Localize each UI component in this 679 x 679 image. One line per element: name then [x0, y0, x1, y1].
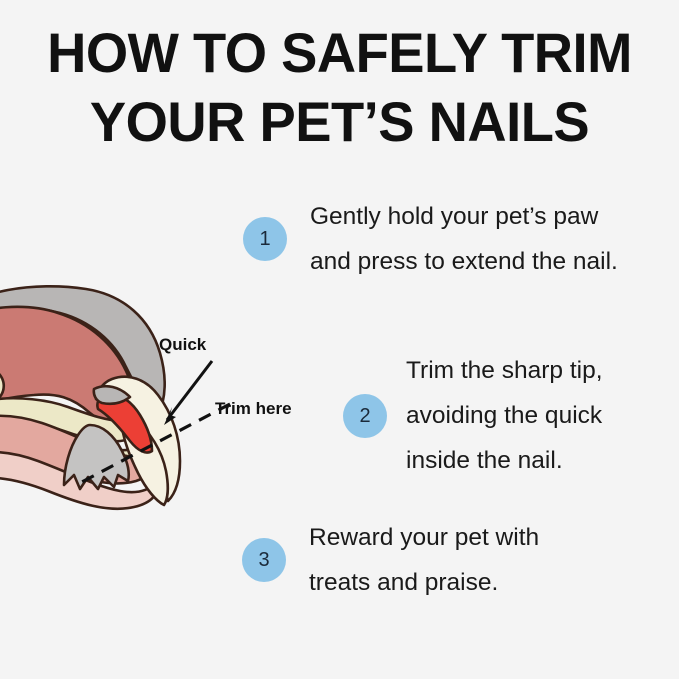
title-line-2: YOUR PET’S NAILS [10, 87, 669, 156]
step-item-1: 1 Gently hold your pet’s paw and press t… [243, 194, 618, 284]
step-text-3: Reward your pet with treats and praise. [309, 515, 539, 605]
step-item-2: 2 Trim the sharp tip, avoiding the quick… [343, 348, 603, 483]
title-line-1: HOW TO SAFELY TRIM [10, 18, 669, 87]
step-number-badge-2: 2 [343, 394, 387, 438]
step-number-badge-3: 3 [242, 538, 286, 582]
infographic-canvas: HOW TO SAFELY TRIM YOUR PET’S NAILS [0, 0, 679, 679]
quick-pointer-arrow [167, 361, 212, 420]
step-text-2: Trim the sharp tip, avoiding the quick i… [406, 348, 603, 483]
step-text-1: Gently hold your pet’s paw and press to … [310, 194, 618, 284]
step-item-3: 3 Reward your pet with treats and praise… [242, 515, 539, 605]
callout-trim-here-label: Trim here [215, 399, 292, 419]
step-number-badge-1: 1 [243, 217, 287, 261]
paw-cross-section-illustration [0, 275, 314, 515]
callout-quick-label: Quick [159, 335, 206, 355]
page-title: HOW TO SAFELY TRIM YOUR PET’S NAILS [0, 18, 679, 156]
